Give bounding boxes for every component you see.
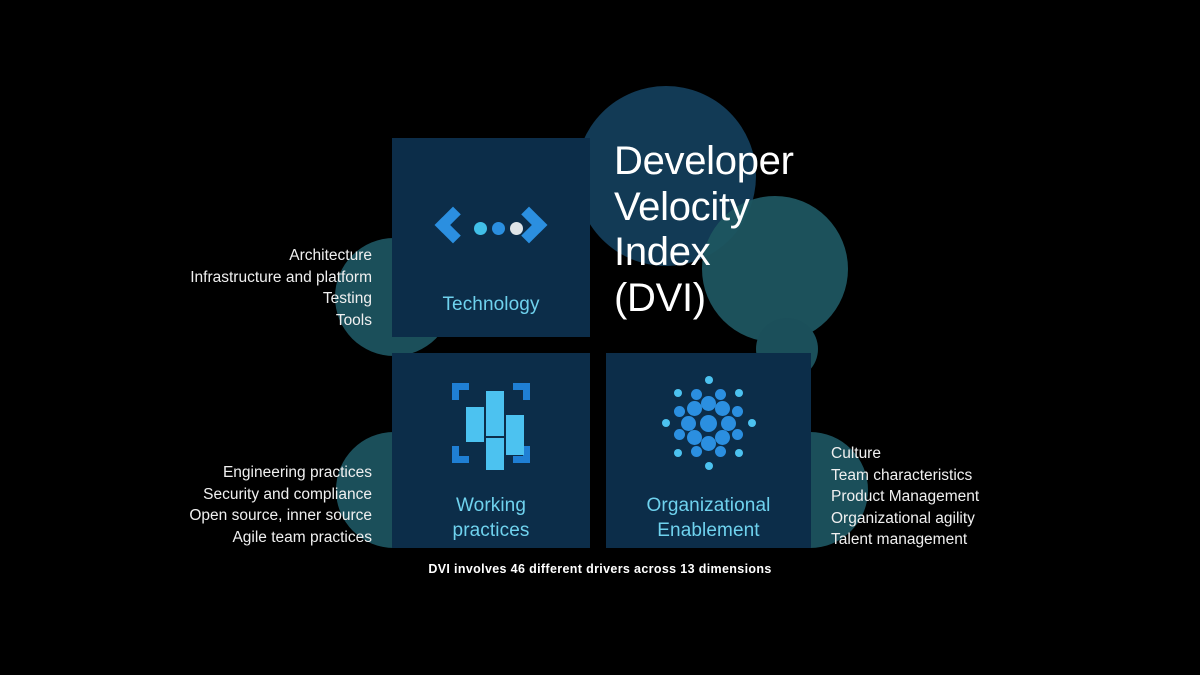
driver-item: Security and compliance	[172, 484, 372, 506]
kanban-board-icon	[436, 375, 546, 471]
network-dot-r3-4	[705, 462, 713, 470]
network-dot-r1-6	[681, 416, 696, 431]
network-dot-r2-0	[715, 389, 726, 400]
network-dot-r2-4	[691, 446, 702, 457]
network-dot-r1-5	[687, 430, 702, 445]
network-dot-r2-1	[732, 406, 743, 417]
footer-caption: DVI involves 46 different drivers across…	[0, 562, 1200, 576]
network-dot-r3-1	[735, 389, 743, 397]
code-dot-3-icon	[510, 222, 523, 235]
network-dot-r3-0	[705, 376, 713, 384]
network-dot-center	[700, 415, 717, 432]
driver-item: Product Management	[831, 486, 1091, 508]
network-dot-r1-4	[701, 436, 716, 451]
code-dot-2-icon	[492, 222, 505, 235]
page-title: Developer Velocity Index (DVI)	[614, 139, 914, 321]
tile-working-practices-label: Working practices	[453, 493, 530, 543]
drivers-list-working-practices: Engineering practices Security and compl…	[172, 462, 372, 548]
tile-working-practices[interactable]: Working practices	[392, 353, 590, 548]
driver-item: Engineering practices	[172, 462, 372, 484]
drivers-list-organizational-enablement: Culture Team characteristics Product Man…	[831, 443, 1091, 551]
tile-organizational-enablement[interactable]: Organizational Enablement	[606, 353, 811, 548]
driver-item: Culture	[831, 443, 1091, 465]
kanban-bar-1	[466, 407, 484, 442]
driver-item: Agile team practices	[172, 527, 372, 549]
drivers-list-technology: Architecture Infrastructure and platform…	[140, 245, 372, 331]
network-dot-r2-2	[732, 429, 743, 440]
driver-item: Infrastructure and platform	[140, 267, 372, 289]
network-dot-r3-5	[674, 449, 682, 457]
network-dot-r1-7	[687, 401, 702, 416]
slide-canvas: Technology Working practices Organizatio…	[0, 0, 1200, 675]
network-dot-r3-7	[674, 389, 682, 397]
kanban-bar-3	[486, 438, 504, 470]
code-brackets-dots-icon	[436, 190, 546, 270]
tile-organizational-enablement-label: Organizational Enablement	[647, 493, 771, 543]
driver-item: Open source, inner source	[172, 505, 372, 527]
driver-item: Organizational agility	[831, 508, 1091, 530]
driver-item: Tools	[140, 310, 372, 332]
network-dot-r1-1	[715, 401, 730, 416]
kanban-bar-2	[486, 391, 504, 436]
network-dot-r2-3	[715, 446, 726, 457]
network-dot-r2-5	[674, 429, 685, 440]
network-dot-r3-6	[662, 419, 670, 427]
driver-item: Architecture	[140, 245, 372, 267]
driver-item: Testing	[140, 288, 372, 310]
driver-item: Talent management	[831, 529, 1091, 551]
chevron-left-icon	[435, 207, 472, 244]
network-dot-r1-0	[701, 396, 716, 411]
network-dots-icon	[654, 375, 764, 471]
corner-bracket-top-left-icon	[452, 383, 469, 400]
network-dot-r3-2	[748, 419, 756, 427]
network-dot-r3-3	[735, 449, 743, 457]
network-dot-r1-2	[721, 416, 736, 431]
network-dot-r2-7	[691, 389, 702, 400]
corner-bracket-top-right-icon	[513, 383, 530, 400]
tile-technology-label: Technology	[442, 292, 539, 317]
tile-technology[interactable]: Technology	[392, 138, 590, 337]
corner-bracket-bottom-left-icon	[452, 446, 469, 463]
driver-item: Team characteristics	[831, 465, 1091, 487]
kanban-bar-4	[506, 415, 524, 455]
network-dot-r1-3	[715, 430, 730, 445]
network-dot-r2-6	[674, 406, 685, 417]
code-dot-1-icon	[474, 222, 487, 235]
